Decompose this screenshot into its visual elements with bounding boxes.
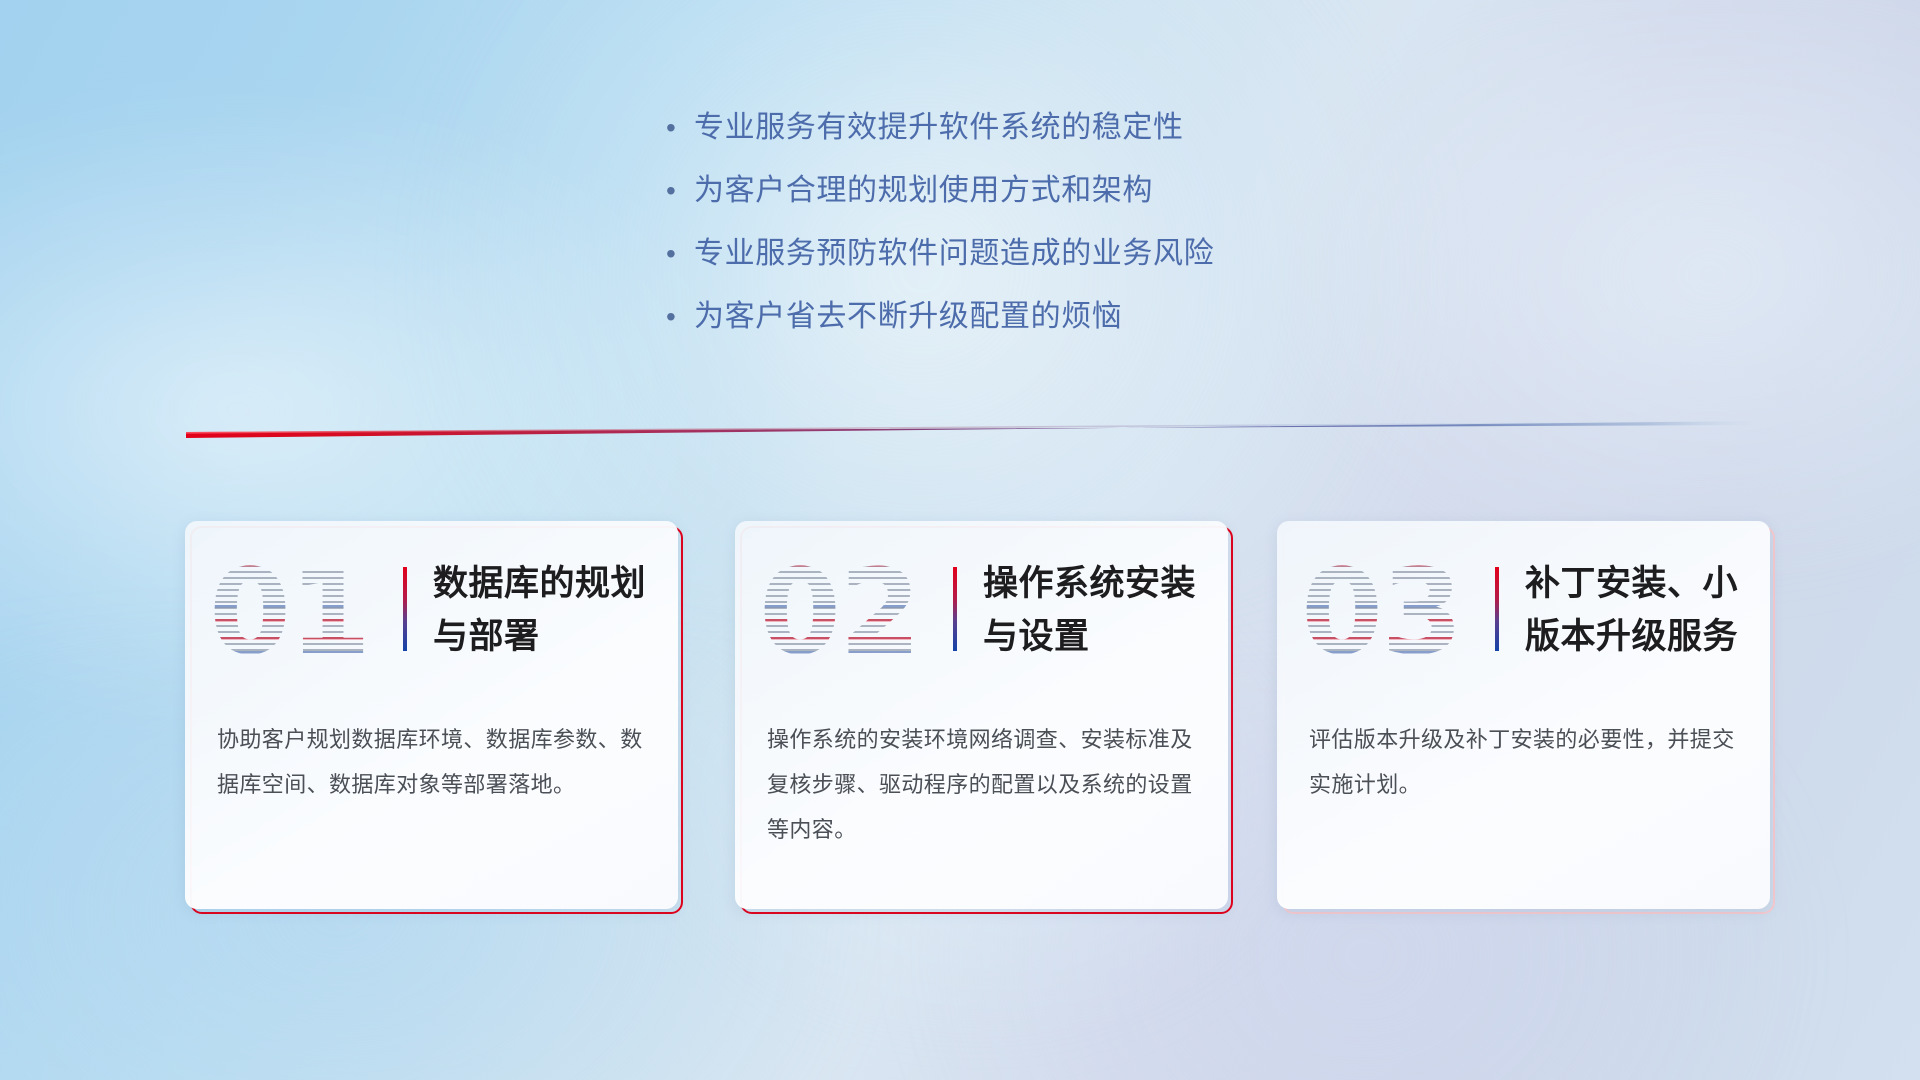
card-title-line: 数据库的规划 — [433, 557, 662, 610]
card-number-ghost-accent: 02 — [759, 553, 919, 671]
card-title-accent-bar — [953, 567, 957, 651]
card-header: 01 01 数据库的规划 与部署 — [185, 521, 678, 711]
service-card-02[interactable]: 02 02 操作系统安装 与设置 操作系统的安装环境网络调查、安装标准及复核步骤… — [735, 521, 1228, 909]
card-surface: 03 03 补丁安装、小 版本升级服务 评估版本升级及补丁安装的必要性，并提交实… — [1277, 521, 1770, 909]
card-title-line: 补丁安装、小 — [1525, 557, 1754, 610]
service-card-01[interactable]: 01 01 数据库的规划 与部署 协助客户规划数据库环境、数据库参数、数据库空间… — [185, 521, 678, 909]
card-number-ghost-accent: 03 — [1301, 553, 1461, 671]
card-title-line: 版本升级服务 — [1525, 610, 1754, 663]
card-title-line: 与部署 — [433, 610, 662, 663]
card-title: 操作系统安装 与设置 — [983, 557, 1212, 663]
card-surface: 02 02 操作系统安装 与设置 操作系统的安装环境网络调查、安装标准及复核步骤… — [735, 521, 1228, 909]
card-title: 数据库的规划 与部署 — [433, 557, 662, 663]
card-title: 补丁安装、小 版本升级服务 — [1525, 557, 1754, 663]
card-header: 02 02 操作系统安装 与设置 — [735, 521, 1228, 711]
card-header: 03 03 补丁安装、小 版本升级服务 — [1277, 521, 1770, 711]
card-description: 评估版本升级及补丁安装的必要性，并提交实施计划。 — [1309, 717, 1744, 807]
service-card-group: 01 01 数据库的规划 与部署 协助客户规划数据库环境、数据库参数、数据库空间… — [0, 0, 1920, 1080]
card-title-line: 与设置 — [983, 610, 1212, 663]
card-title-accent-bar — [403, 567, 407, 651]
card-surface: 01 01 数据库的规划 与部署 协助客户规划数据库环境、数据库参数、数据库空间… — [185, 521, 678, 909]
card-title-accent-bar — [1495, 567, 1499, 651]
service-card-03[interactable]: 03 03 补丁安装、小 版本升级服务 评估版本升级及补丁安装的必要性，并提交实… — [1277, 521, 1770, 909]
card-description: 协助客户规划数据库环境、数据库参数、数据库空间、数据库对象等部署落地。 — [217, 717, 652, 807]
card-description: 操作系统的安装环境网络调查、安装标准及复核步骤、驱动程序的配置以及系统的设置等内… — [767, 717, 1202, 852]
card-title-line: 操作系统安装 — [983, 557, 1212, 610]
card-number-ghost-accent: 01 — [209, 553, 369, 671]
